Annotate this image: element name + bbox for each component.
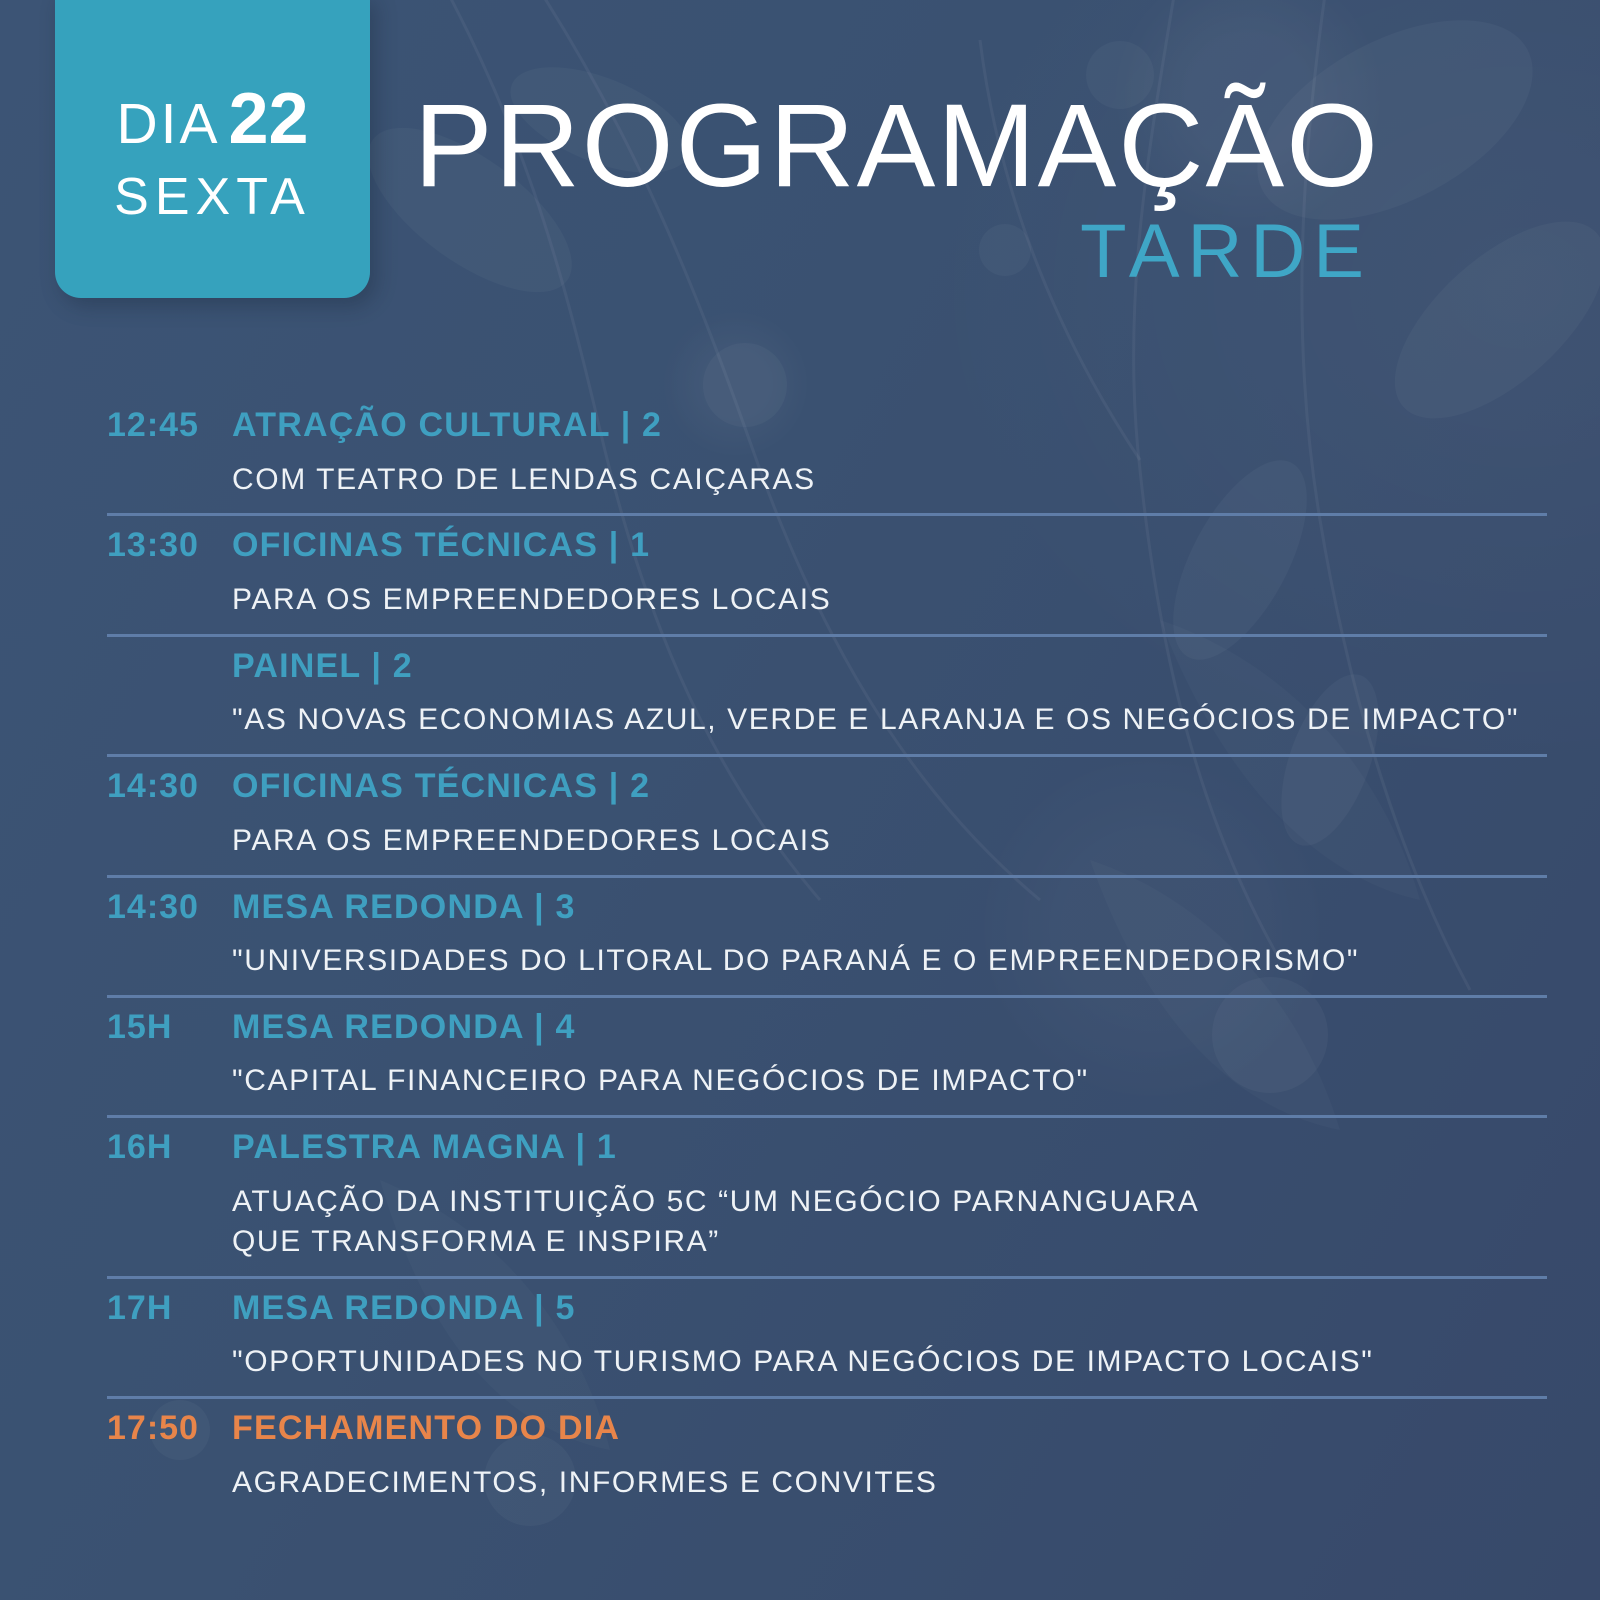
schedule-entry-title: PALESTRA MAGNA | 1 (232, 1126, 617, 1169)
schedule-entry-time: 17H (107, 1287, 232, 1330)
schedule-entry-title: MESA REDONDA | 4 (232, 1006, 576, 1049)
schedule-entry-description-line: ATUAÇÃO DA INSTITUIÇÃO 5C “UM NEGÓCIO PA… (232, 1182, 1547, 1222)
schedule-entry-time: 14:30 (107, 765, 232, 808)
schedule-entry-description: PARA OS EMPREENDEDORES LOCAIS (232, 821, 1547, 861)
schedule-entry-head: 17:50FECHAMENTO DO DIA (107, 1407, 1547, 1450)
schedule-entry-description: "UNIVERSIDADES DO LITORAL DO PARANÁ E O … (232, 941, 1547, 981)
schedule-entry: 12:45ATRAÇÃO CULTURAL | 2COM TEATRO DE L… (107, 396, 1547, 513)
schedule-entry-description-line: "AS NOVAS ECONOMIAS AZUL, VERDE E LARANJ… (232, 700, 1547, 740)
schedule-entry-head: 12:45ATRAÇÃO CULTURAL | 2 (107, 404, 1547, 447)
schedule-entry-time: 13:30 (107, 524, 232, 567)
schedule-entry-head: 17HMESA REDONDA | 5 (107, 1287, 1547, 1330)
schedule-entry-description: PARA OS EMPREENDEDORES LOCAIS (232, 580, 1547, 620)
schedule-entry-head: PAINEL | 2 (107, 645, 1547, 688)
poster-header: PROGRAMAÇÃO TARDE (0, 86, 1490, 292)
schedule-entry-time: 16H (107, 1126, 232, 1169)
schedule-entry-description-line: "OPORTUNIDADES NO TURISMO PARA NEGÓCIOS … (232, 1342, 1547, 1382)
schedule-entry-title: MESA REDONDA | 3 (232, 886, 576, 929)
schedule-entry-description-line: PARA OS EMPREENDEDORES LOCAIS (232, 580, 1547, 620)
schedule-entry-description-line: QUE TRANSFORMA E INSPIRA” (232, 1222, 1547, 1262)
page-subtitle: TARDE (0, 212, 1380, 292)
schedule-entry-time: 12:45 (107, 404, 232, 447)
schedule-entry: PAINEL | 2"AS NOVAS ECONOMIAS AZUL, VERD… (107, 634, 1547, 754)
schedule-entry-head: 13:30OFICINAS TÉCNICAS | 1 (107, 524, 1547, 567)
schedule-entry-title: OFICINAS TÉCNICAS | 2 (232, 765, 650, 808)
page-title: PROGRAMAÇÃO (0, 86, 1380, 206)
schedule-entry: 16HPALESTRA MAGNA | 1ATUAÇÃO DA INSTITUI… (107, 1115, 1547, 1275)
schedule-entry-time: 15H (107, 1006, 232, 1049)
schedule-entry: 13:30OFICINAS TÉCNICAS | 1PARA OS EMPREE… (107, 513, 1547, 633)
schedule-entry-head: 16HPALESTRA MAGNA | 1 (107, 1126, 1547, 1169)
schedule-entry-description: COM TEATRO DE LENDAS CAIÇARAS (232, 460, 1547, 500)
schedule-entry-time: 14:30 (107, 886, 232, 929)
schedule-entry-description-line: PARA OS EMPREENDEDORES LOCAIS (232, 821, 1547, 861)
schedule-entry-description: ATUAÇÃO DA INSTITUIÇÃO 5C “UM NEGÓCIO PA… (232, 1182, 1547, 1262)
schedule-entry-head: 15HMESA REDONDA | 4 (107, 1006, 1547, 1049)
schedule-entry-title: PAINEL | 2 (232, 645, 413, 688)
schedule-entry: 14:30MESA REDONDA | 3"UNIVERSIDADES DO L… (107, 875, 1547, 995)
schedule-entry-title: FECHAMENTO DO DIA (232, 1407, 620, 1450)
schedule-entry-title: OFICINAS TÉCNICAS | 1 (232, 524, 650, 567)
schedule-entry-description: "AS NOVAS ECONOMIAS AZUL, VERDE E LARANJ… (232, 700, 1547, 740)
schedule-list: 12:45ATRAÇÃO CULTURAL | 2COM TEATRO DE L… (107, 396, 1547, 1516)
schedule-entry: 17:50FECHAMENTO DO DIAAGRADECIMENTOS, IN… (107, 1396, 1547, 1516)
schedule-entry-description: "OPORTUNIDADES NO TURISMO PARA NEGÓCIOS … (232, 1342, 1547, 1382)
schedule-entry: 17HMESA REDONDA | 5"OPORTUNIDADES NO TUR… (107, 1276, 1547, 1396)
schedule-poster: DIA 22 SEXTA PROGRAMAÇÃO TARDE 12:45ATRA… (0, 0, 1600, 1600)
schedule-entry-time: 17:50 (107, 1407, 232, 1450)
schedule-entry-description: "CAPITAL FINANCEIRO PARA NEGÓCIOS DE IMP… (232, 1061, 1547, 1101)
schedule-entry-description-line: "UNIVERSIDADES DO LITORAL DO PARANÁ E O … (232, 941, 1547, 981)
schedule-entry: 14:30OFICINAS TÉCNICAS | 2PARA OS EMPREE… (107, 754, 1547, 874)
schedule-entry-description-line: AGRADECIMENTOS, INFORMES E CONVITES (232, 1463, 1547, 1503)
schedule-entry: 15HMESA REDONDA | 4"CAPITAL FINANCEIRO P… (107, 995, 1547, 1115)
schedule-entry-description: AGRADECIMENTOS, INFORMES E CONVITES (232, 1463, 1547, 1503)
schedule-entry-title: MESA REDONDA | 5 (232, 1287, 576, 1330)
schedule-entry-title: ATRAÇÃO CULTURAL | 2 (232, 404, 662, 447)
schedule-entry-description-line: COM TEATRO DE LENDAS CAIÇARAS (232, 460, 1547, 500)
schedule-entry-head: 14:30MESA REDONDA | 3 (107, 886, 1547, 929)
schedule-entry-head: 14:30OFICINAS TÉCNICAS | 2 (107, 765, 1547, 808)
schedule-entry-description-line: "CAPITAL FINANCEIRO PARA NEGÓCIOS DE IMP… (232, 1061, 1547, 1101)
